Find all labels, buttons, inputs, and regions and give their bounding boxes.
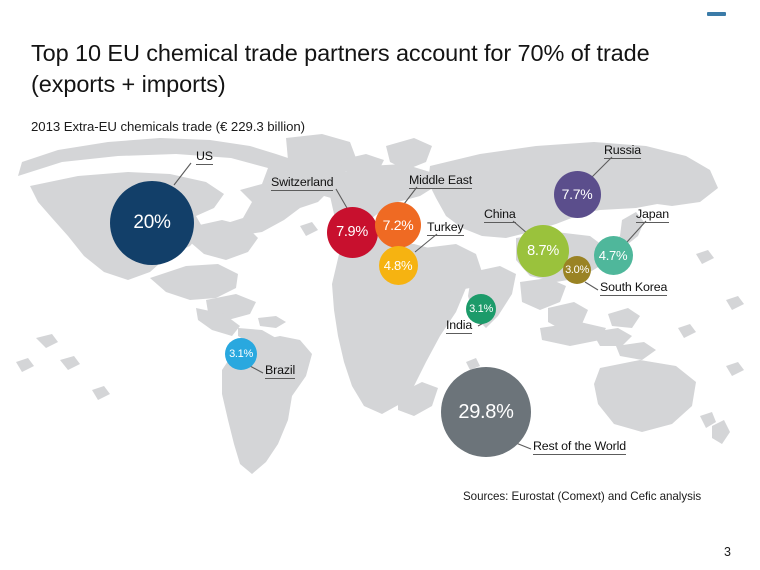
bubble-value-middle-east: 7.2% <box>383 217 414 233</box>
bubble-turkey[interactable]: 4.8% <box>379 246 418 285</box>
callout-label-brazil: Brazil <box>265 363 295 379</box>
bubble-value-russia: 7.7% <box>562 186 593 202</box>
bubble-russia[interactable]: 7.7% <box>554 171 601 218</box>
bubble-south-korea[interactable]: 3.0% <box>563 256 591 284</box>
page-number: 3 <box>724 545 731 559</box>
callout-label-india: India <box>446 318 472 334</box>
accent-dash-icon <box>707 12 726 16</box>
callout-label-japan: Japan <box>636 207 669 223</box>
sources-note: Sources: Eurostat (Comext) and Cefic ana… <box>463 490 701 503</box>
bubble-japan[interactable]: 4.7% <box>594 236 633 275</box>
bubble-value-india: 3.1% <box>469 303 493 315</box>
callout-label-south-korea: South Korea <box>600 280 667 296</box>
bubble-brazil[interactable]: 3.1% <box>225 338 257 370</box>
callout-label-switzerland: Switzerland <box>271 175 333 191</box>
bubble-value-us: 20% <box>133 212 170 234</box>
bubble-value-south-korea: 3.0% <box>565 264 589 276</box>
bubble-value-switzerland: 7.9% <box>336 224 368 240</box>
bubble-value-rest-of-the-world: 29.8% <box>458 401 513 424</box>
bubble-middle-east[interactable]: 7.2% <box>375 202 421 248</box>
page-title: Top 10 EU chemical trade partners accoun… <box>31 38 651 99</box>
bubble-layer: 20%US7.9%Switzerland7.2%Middle East4.8%T… <box>0 132 760 492</box>
callout-label-rest-of-the-world: Rest of the World <box>533 439 626 455</box>
slide-canvas: Top 10 EU chemical trade partners accoun… <box>0 0 760 570</box>
bubble-value-brazil: 3.1% <box>229 348 253 360</box>
bubble-value-japan: 4.7% <box>599 248 627 263</box>
bubble-value-turkey: 4.8% <box>384 258 412 273</box>
callout-label-russia: Russia <box>604 143 641 159</box>
bubble-rest-of-the-world[interactable]: 29.8% <box>441 367 531 457</box>
bubble-switzerland[interactable]: 7.9% <box>327 207 378 258</box>
bubble-us[interactable]: 20% <box>110 181 194 265</box>
callout-label-turkey: Turkey <box>427 220 464 236</box>
bubble-value-china: 8.7% <box>527 243 559 259</box>
bubble-china[interactable]: 8.7% <box>517 225 569 277</box>
callout-label-middle-east: Middle East <box>409 173 472 189</box>
callout-label-us: US <box>196 149 213 165</box>
callout-label-china: China <box>484 207 516 223</box>
